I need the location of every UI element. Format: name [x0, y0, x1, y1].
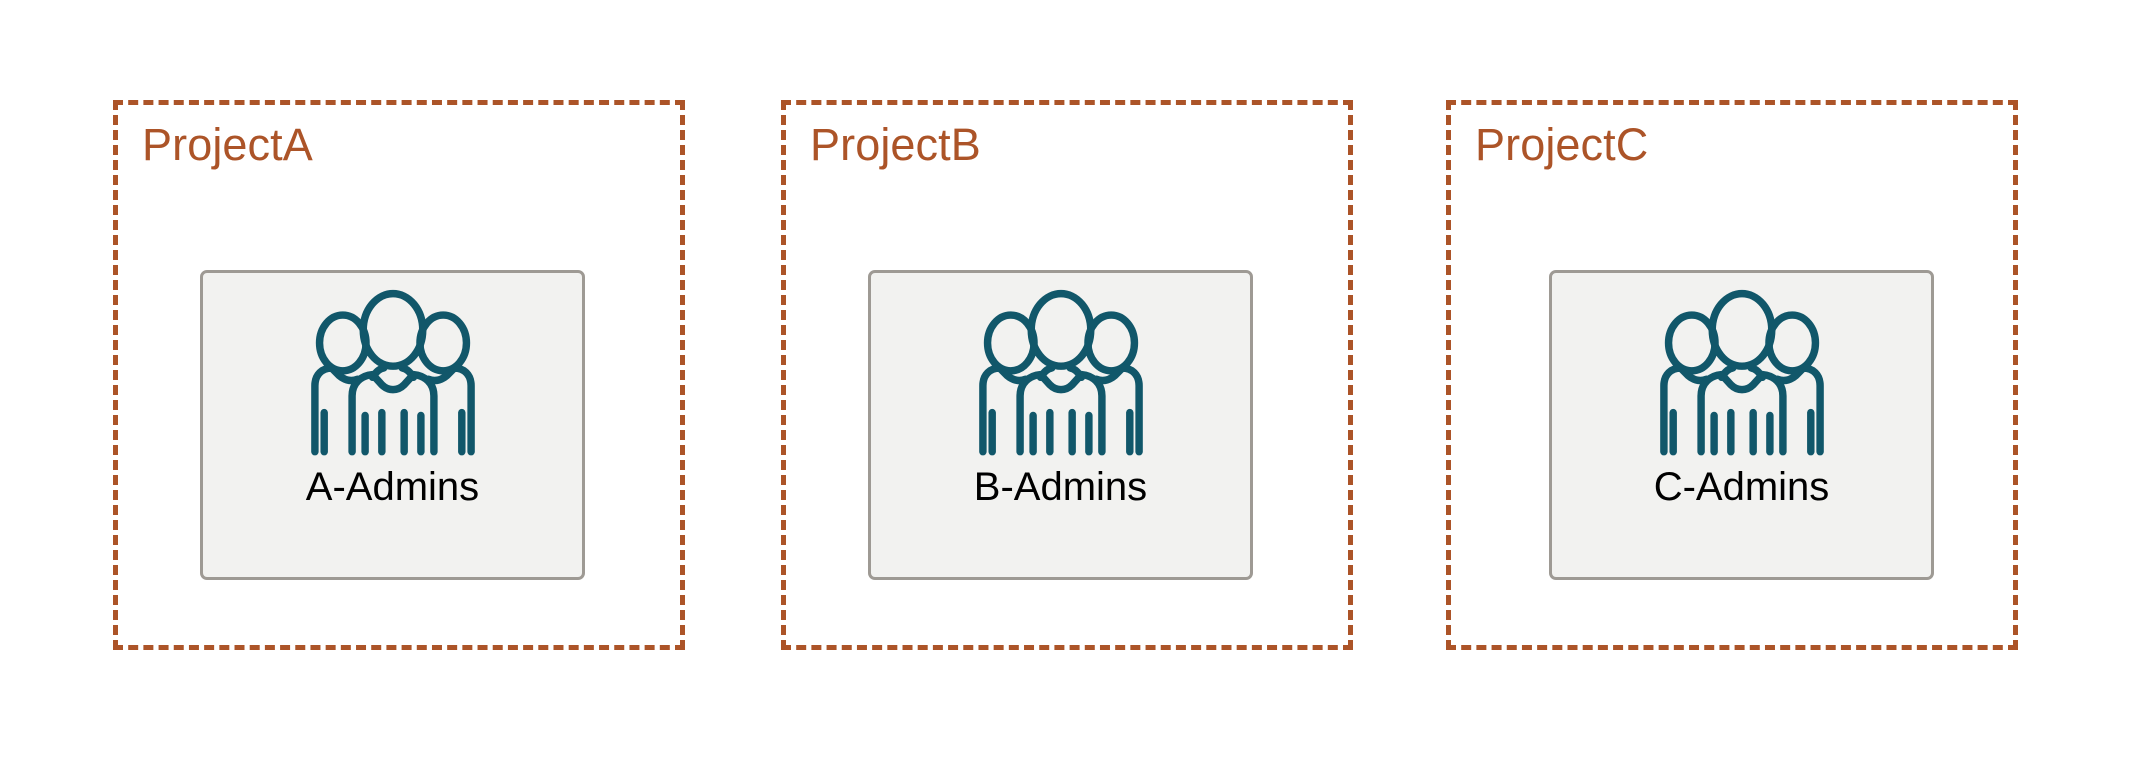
group-card-a-admins[interactable]: A-Admins [200, 270, 585, 580]
project-container-projectb[interactable]: ProjectBB-Admins [781, 100, 1353, 650]
diagram-canvas: ProjectAA-AdminsProjectBB-AdminsProjectC… [0, 0, 2155, 761]
group-label: B-Admins [974, 465, 1147, 509]
group-label: C-Admins [1654, 465, 1830, 509]
project-container-projectc[interactable]: ProjectCC-Admins [1446, 100, 2018, 650]
group-card-b-admins[interactable]: B-Admins [868, 270, 1253, 580]
people-group-icon [968, 289, 1154, 461]
group-card-c-admins[interactable]: C-Admins [1549, 270, 1934, 580]
project-title: ProjectC [1475, 121, 1648, 168]
people-group-icon [300, 289, 486, 461]
project-container-projecta[interactable]: ProjectAA-Admins [113, 100, 685, 650]
people-group-icon [1649, 289, 1835, 461]
project-title: ProjectB [810, 121, 981, 168]
project-title: ProjectA [142, 121, 313, 168]
group-label: A-Admins [306, 465, 479, 509]
